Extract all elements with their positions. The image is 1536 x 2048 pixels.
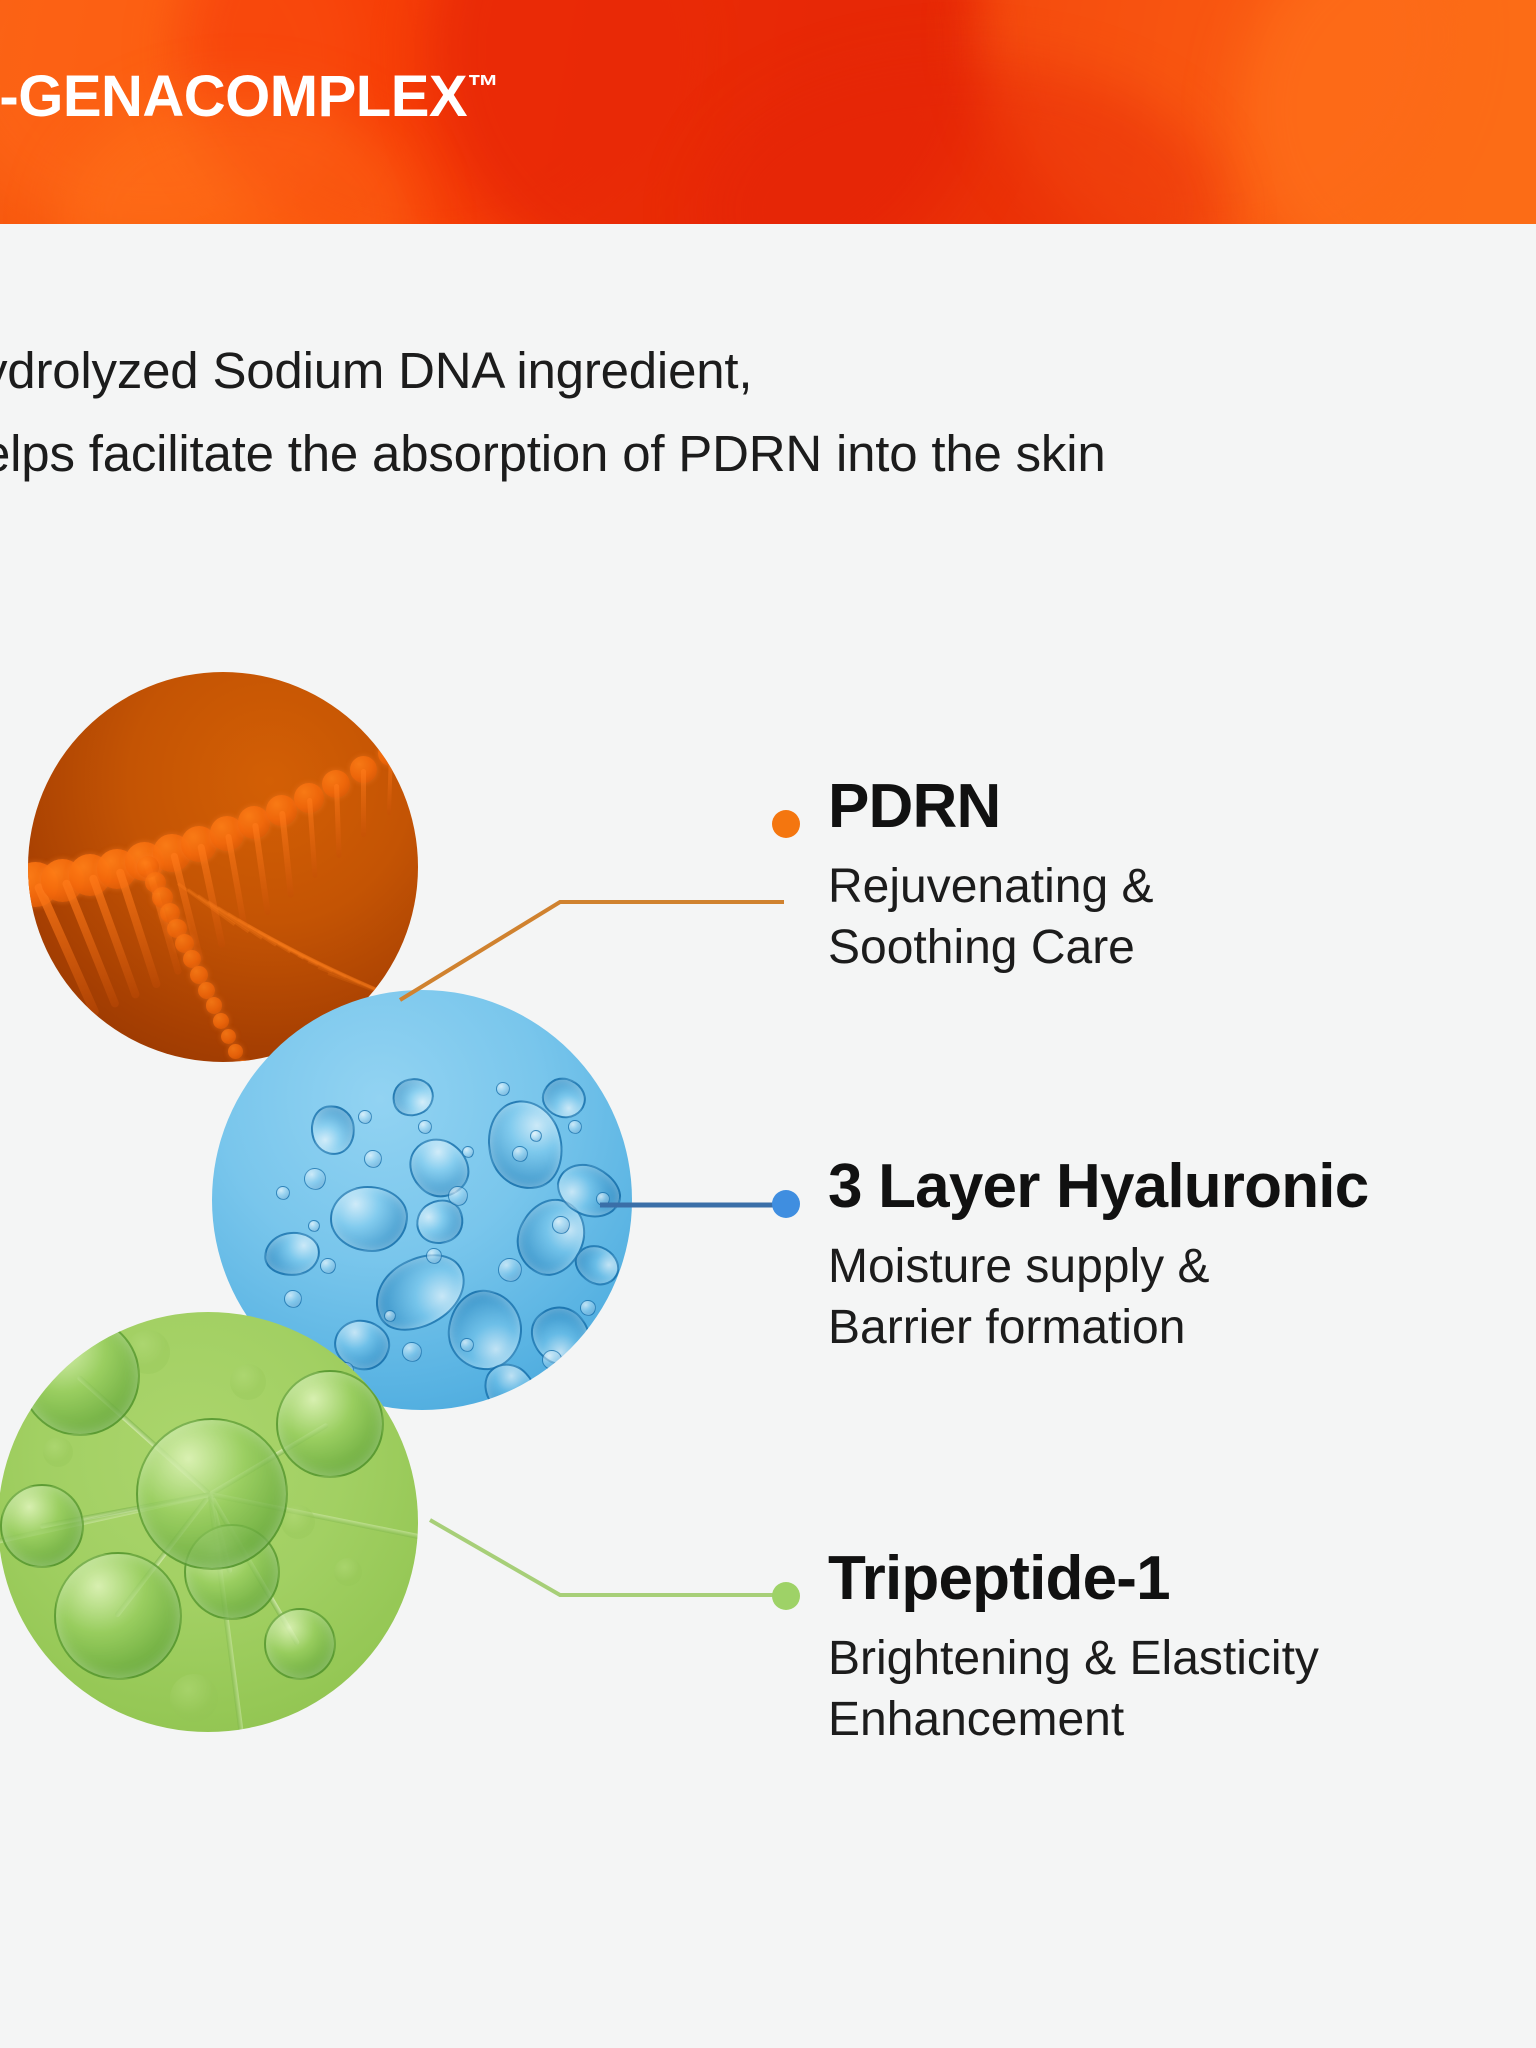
helix-rung — [267, 936, 361, 984]
water-bubble-small — [542, 1350, 562, 1370]
bullet-dot-icon — [772, 1582, 800, 1610]
molecule-ghost-sphere — [170, 1674, 218, 1722]
helix-stem — [387, 754, 393, 815]
helix-stem — [252, 822, 271, 915]
water-bubble — [473, 1353, 546, 1410]
water-bubble — [330, 1316, 394, 1375]
water-bubble-small — [496, 1082, 510, 1096]
helix-rung — [177, 882, 235, 926]
helix-bead-small — [221, 1029, 236, 1044]
helix-rung — [297, 954, 403, 1002]
helix-stem — [143, 860, 183, 976]
connector-line-pdrn — [400, 902, 784, 1000]
helix-bead-small — [213, 1013, 229, 1029]
helix-bead-small — [145, 872, 166, 893]
water-bubble — [477, 1092, 573, 1199]
molecule-bond — [208, 1493, 300, 1646]
ingredient-description-line-1: Moisture supply & — [828, 1236, 1210, 1297]
molecule-node — [54, 1552, 182, 1680]
helix-bead — [28, 864, 31, 910]
page-title: D-GENACOMPLEX™ — [0, 68, 499, 126]
helix-stem — [307, 798, 318, 879]
helix-stem — [361, 769, 366, 837]
ingredient-title: PDRN — [828, 776, 1000, 838]
intro-paragraph: ydrolyzed Sodium DNA ingredient, elps fa… — [0, 330, 1536, 495]
helix-bead-small — [236, 1060, 250, 1062]
water-bubble — [519, 1294, 603, 1377]
helix-rung — [277, 942, 375, 990]
helix-stem — [34, 883, 100, 1018]
water-bubble — [361, 1238, 478, 1347]
molecule-center-node — [136, 1418, 288, 1570]
water-bubble-small — [426, 1248, 442, 1264]
water-bubble — [307, 1101, 360, 1158]
helix-bead-small — [206, 997, 222, 1013]
water-bubble-small — [338, 1362, 354, 1378]
helix-bead — [406, 725, 418, 749]
helix-stem — [225, 833, 248, 932]
water-bubble-small — [462, 1146, 474, 1158]
helix-stem — [61, 879, 120, 1009]
ingredient-description: Rejuvenating & Soothing Care — [828, 856, 1154, 979]
water-bubble-small — [512, 1146, 528, 1162]
molecule-node — [0, 1484, 84, 1568]
water-bubble — [538, 1073, 591, 1123]
helix-rung — [207, 900, 277, 946]
helix-bead-small — [190, 966, 208, 984]
ingredient-description: Moisture supply & Barrier formation — [828, 1236, 1210, 1359]
bullet-dot-icon — [772, 810, 800, 838]
helix-stem — [279, 810, 294, 897]
molecule-bond — [0, 1492, 211, 1557]
water-bubble-small — [358, 1110, 372, 1124]
water-bubble — [445, 1287, 526, 1373]
ingredient-description: Brightening & Elasticity Enhancement — [828, 1628, 1319, 1751]
molecule-ghost-sphere — [126, 1330, 170, 1374]
helix-rung — [257, 930, 347, 978]
molecule-bond — [114, 1493, 212, 1618]
molecule-bond — [210, 1492, 418, 1549]
ingredient-title: Tripeptide-1 — [828, 1548, 1170, 1610]
helix-bead — [378, 741, 403, 766]
water-bubble-small — [308, 1220, 320, 1232]
water-bubble-small — [364, 1150, 382, 1168]
water-bubble-small — [384, 1310, 396, 1322]
helix-bead — [238, 806, 271, 839]
helix-bead-small — [152, 887, 173, 908]
helix-bead — [125, 842, 164, 881]
water-bubble-small — [580, 1300, 596, 1316]
helix-stem — [170, 852, 204, 962]
ingredient-image-tripeptide — [0, 1312, 418, 1732]
molecule-bond — [40, 1492, 211, 1529]
intro-line-1: ydrolyzed Sodium DNA ingredient, — [0, 330, 1536, 413]
helix-bead-small — [137, 856, 159, 878]
water-bubble-small — [402, 1342, 422, 1362]
helix-bead-small — [160, 903, 180, 923]
helix-bead-small — [175, 934, 194, 953]
ingredient-description-line-2: Barrier formation — [828, 1297, 1210, 1358]
water-bubble-small — [552, 1216, 570, 1234]
ingredient-image-pdrn — [28, 672, 418, 1062]
helix-rung — [217, 906, 291, 953]
header-title-text: D-GENACOMPLEX — [0, 64, 467, 129]
molecule-illustration — [0, 1312, 418, 1732]
helix-rung — [287, 948, 389, 996]
molecule-node — [276, 1370, 384, 1478]
water-bubble — [386, 1072, 439, 1123]
water-bubble-small — [460, 1338, 474, 1352]
header-banner: D-GENACOMPLEX™ — [0, 0, 1536, 224]
helix-rung — [187, 888, 249, 933]
ingredient-description-line-2: Enhancement — [828, 1689, 1319, 1750]
water-bubble — [409, 1192, 472, 1253]
ingredient-description-line-2: Soothing Care — [828, 917, 1154, 978]
ingredient-description-line-1: Rejuvenating & — [828, 856, 1154, 917]
water-bubble — [548, 1154, 629, 1228]
water-bubble-small — [530, 1130, 542, 1142]
intro-line-2: elps facilitate the absorption of PDRN i… — [0, 413, 1536, 496]
molecule-bond — [208, 1494, 233, 1573]
helix-bead — [294, 783, 324, 813]
water-bubble — [262, 1229, 322, 1279]
water-bubble-small — [418, 1120, 432, 1134]
water-bubble-small — [276, 1186, 290, 1200]
molecule-bond — [209, 1422, 330, 1496]
water-bubble-small — [596, 1192, 610, 1206]
ingredient-description-line-1: Brightening & Elasticity — [828, 1628, 1319, 1689]
helix-stem — [334, 784, 342, 858]
water-bubble — [397, 1127, 480, 1209]
helix-stem — [116, 868, 162, 989]
helix-bead — [153, 834, 190, 871]
molecule-node — [264, 1608, 336, 1680]
helix-stem — [197, 843, 225, 948]
water-bubble — [506, 1189, 596, 1285]
header-blob — [1240, 0, 1536, 224]
water-bubble-small — [568, 1120, 582, 1134]
water-bubble-small — [498, 1258, 522, 1282]
helix-rung — [307, 960, 417, 1007]
helix-bead-small — [228, 1044, 243, 1059]
helix-bead — [97, 849, 137, 889]
molecule-node — [20, 1316, 140, 1436]
helix-bead — [181, 826, 217, 862]
water-bubble-small — [320, 1258, 336, 1274]
connector-line-tripeptide — [430, 1520, 784, 1595]
helix-rung — [317, 966, 418, 1012]
helix-bead-small — [198, 982, 215, 999]
helix-rung — [227, 912, 305, 960]
water-bubble — [567, 1237, 626, 1293]
water-bubbles-illustration — [212, 990, 632, 1410]
helix-bead-small — [183, 950, 201, 968]
molecule-bond — [76, 1375, 211, 1497]
helix-stem — [88, 874, 140, 1000]
helix-bead — [266, 795, 297, 826]
molecule-ghost-sphere — [334, 1558, 362, 1586]
molecule-ghost-sphere — [230, 1364, 266, 1400]
helix-bead — [28, 862, 58, 907]
helix-rung — [237, 918, 318, 966]
helix-bead — [69, 854, 111, 896]
molecule-node — [184, 1524, 280, 1620]
helix-bead — [210, 816, 244, 850]
helix-rung — [327, 972, 418, 1018]
helix-bead — [350, 756, 377, 783]
dna-helix-illustration — [28, 672, 418, 1062]
trademark-symbol: ™ — [467, 68, 499, 104]
water-bubble-small — [304, 1168, 326, 1190]
ingredient-title: 3 Layer Hyaluronic — [828, 1156, 1368, 1218]
helix-stem — [28, 885, 80, 1024]
helix-rung — [247, 924, 332, 972]
molecule-ghost-sphere — [281, 1505, 315, 1539]
ingredient-image-hyaluronic — [212, 990, 632, 1410]
bullet-dot-icon — [772, 1190, 800, 1218]
helix-bead — [322, 770, 350, 798]
helix-bead — [41, 859, 84, 902]
water-bubble — [330, 1186, 408, 1252]
helix-bead-small — [167, 919, 187, 939]
molecule-bond — [208, 1494, 251, 1732]
water-bubble-small — [284, 1290, 302, 1308]
helix-stem — [412, 737, 418, 792]
water-bubble-small — [448, 1186, 468, 1206]
molecule-ghost-sphere — [43, 1437, 73, 1467]
helix-rung — [197, 894, 263, 940]
